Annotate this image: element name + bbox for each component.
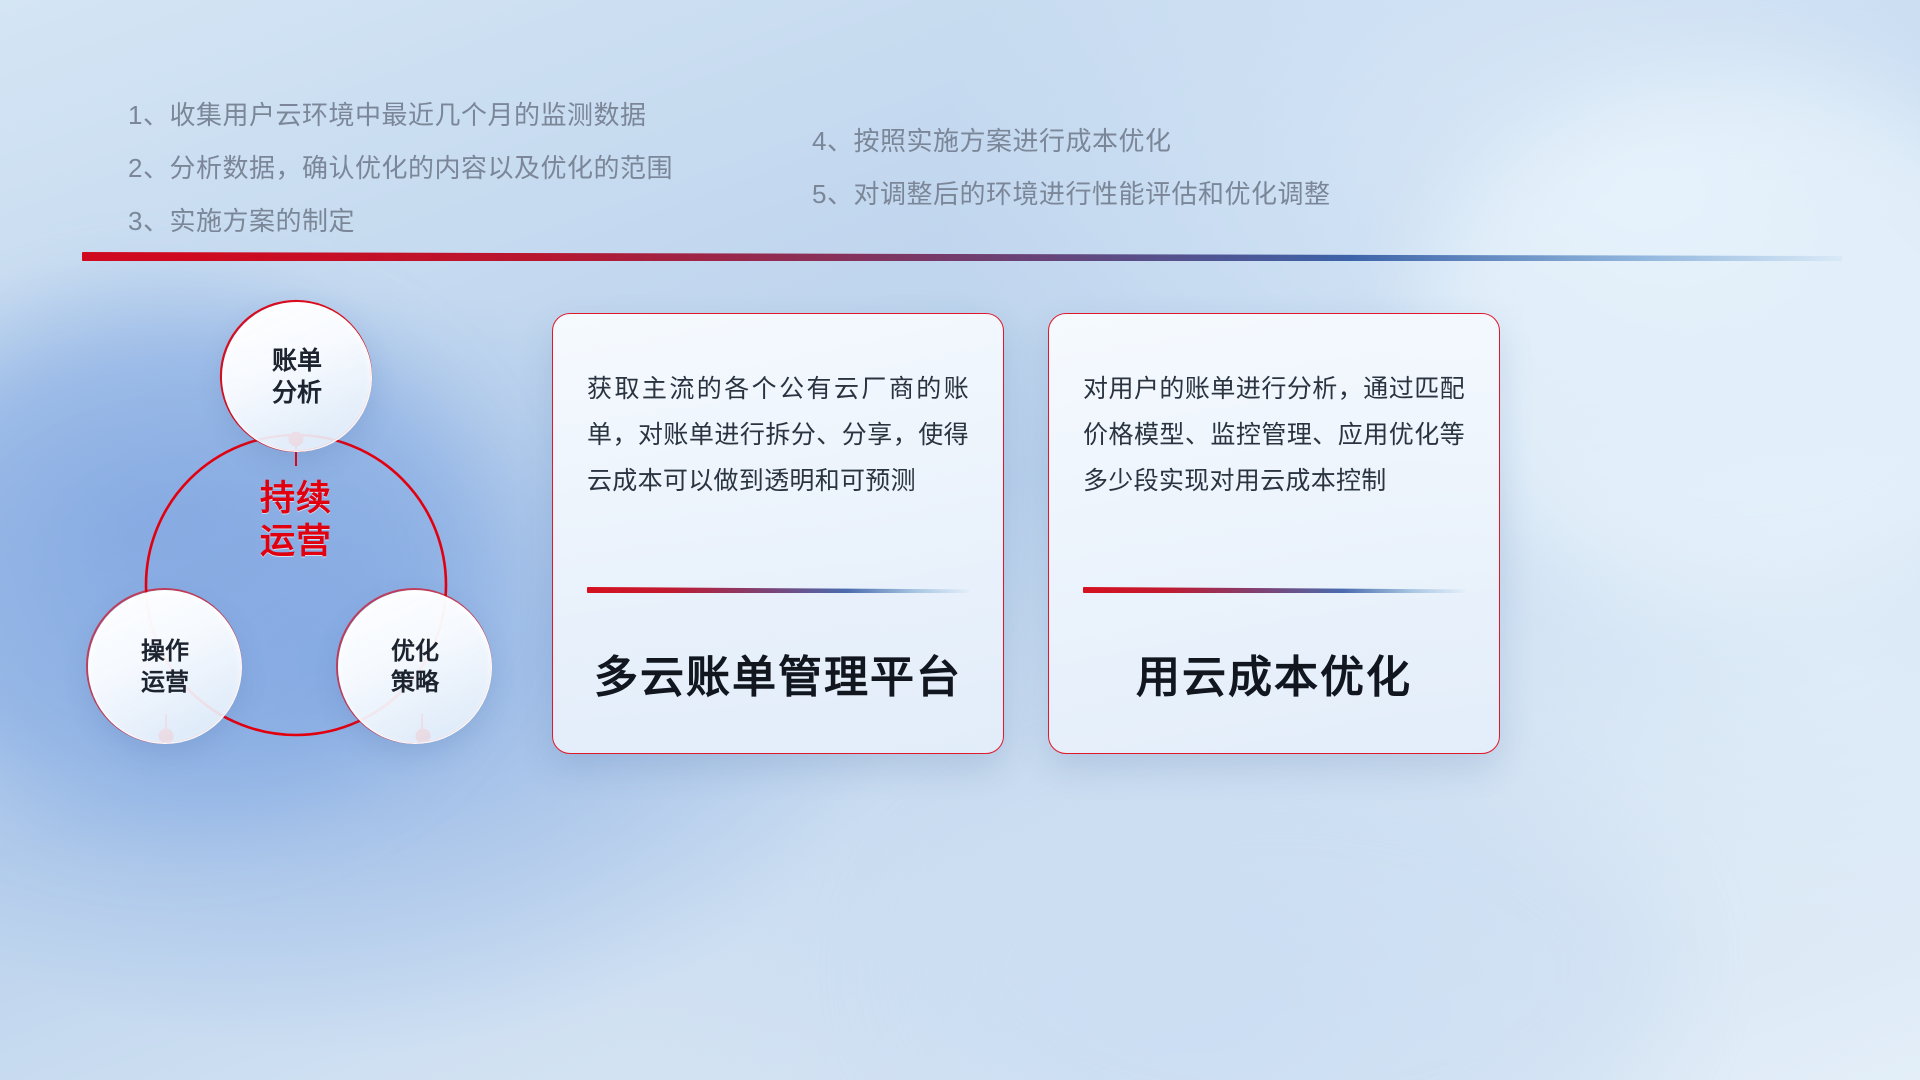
node-ops-line2: 运营 [141, 667, 189, 698]
center-label-line1: 持续 [216, 478, 376, 521]
card-2-divider [1083, 587, 1465, 593]
node-ops-line1: 操作 [141, 636, 189, 667]
background-blob-bottom [900, 760, 1660, 1080]
step-item-1: 1、收集用户云环境中最近几个月的监测数据 [128, 102, 673, 128]
feature-card-cost-optimization[interactable]: 对用户的账单进行分析，通过匹配价格模型、监控管理、应用优化等多少段实现对用云成本… [1048, 313, 1500, 754]
cycle-diagram: 账单 分析 操作 运营 优化 策略 持续 运营 [70, 290, 570, 770]
diagram-node-operations[interactable]: 操作 运营 [88, 590, 242, 744]
diagram-center-label: 持续 运营 [216, 478, 376, 563]
node-strategy-line1: 优化 [391, 636, 439, 667]
step-item-4: 4、按照实施方案进行成本优化 [812, 128, 1330, 154]
slide-canvas: 1、收集用户云环境中最近几个月的监测数据 2、分析数据，确认优化的内容以及优化的… [0, 0, 1920, 1080]
node-bill-line1: 账单 [272, 345, 322, 378]
section-divider [82, 252, 1842, 261]
node-bill-line2: 分析 [272, 377, 322, 410]
card-1-body: 获取主流的各个公有云厂商的账单，对账单进行拆分、分享，使得云成本可以做到透明和可… [587, 366, 969, 571]
step-item-3: 3、实施方案的制定 [128, 208, 673, 234]
step-item-5: 5、对调整后的环境进行性能评估和优化调整 [812, 181, 1330, 207]
steps-list-left: 1、收集用户云环境中最近几个月的监测数据 2、分析数据，确认优化的内容以及优化的… [128, 102, 673, 261]
steps-list-right: 4、按照实施方案进行成本优化 5、对调整后的环境进行性能评估和优化调整 [812, 128, 1330, 234]
diagram-node-bill-analysis[interactable]: 账单 分析 [222, 302, 372, 452]
center-label-line2: 运营 [216, 521, 376, 564]
card-2-title: 用云成本优化 [1083, 641, 1465, 705]
step-item-2: 2、分析数据，确认优化的内容以及优化的范围 [128, 155, 673, 181]
card-1-title: 多云账单管理平台 [587, 641, 969, 705]
diagram-node-optimization-strategy[interactable]: 优化 策略 [338, 590, 492, 744]
card-1-divider [587, 587, 969, 593]
node-strategy-line2: 策略 [391, 667, 439, 698]
card-2-body: 对用户的账单进行分析，通过匹配价格模型、监控管理、应用优化等多少段实现对用云成本… [1083, 366, 1465, 571]
feature-card-multicloud-billing[interactable]: 获取主流的各个公有云厂商的账单，对账单进行拆分、分享，使得云成本可以做到透明和可… [552, 313, 1004, 754]
